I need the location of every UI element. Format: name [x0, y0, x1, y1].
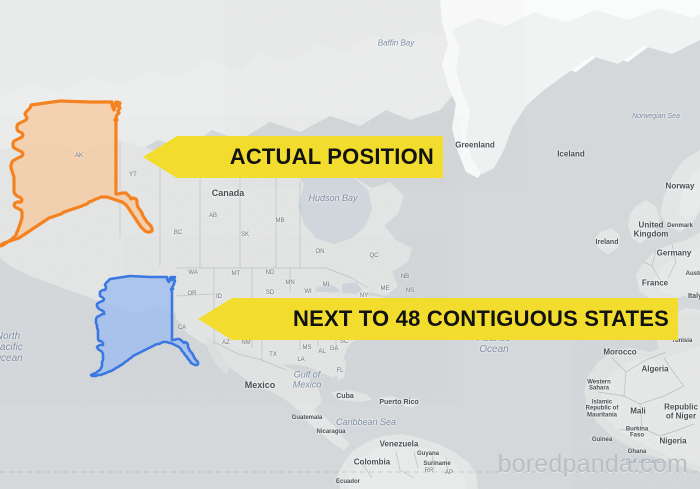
callout-banner-next-to-48: NEXT TO 48 CONTIGUOUS STATES	[198, 298, 678, 340]
watermark: boredpanda.com	[498, 450, 688, 479]
map-screenshot: Baffin BayNorwegian SeaHudson BayNorth P…	[0, 0, 700, 489]
base-map	[0, 0, 700, 489]
callout-banner-actual-position: ACTUAL POSITION	[143, 136, 443, 178]
callout-banner-next-to-48-label: NEXT TO 48 CONTIGUOUS STATES	[293, 306, 669, 332]
callout-banner-actual-position-label: ACTUAL POSITION	[230, 144, 434, 170]
